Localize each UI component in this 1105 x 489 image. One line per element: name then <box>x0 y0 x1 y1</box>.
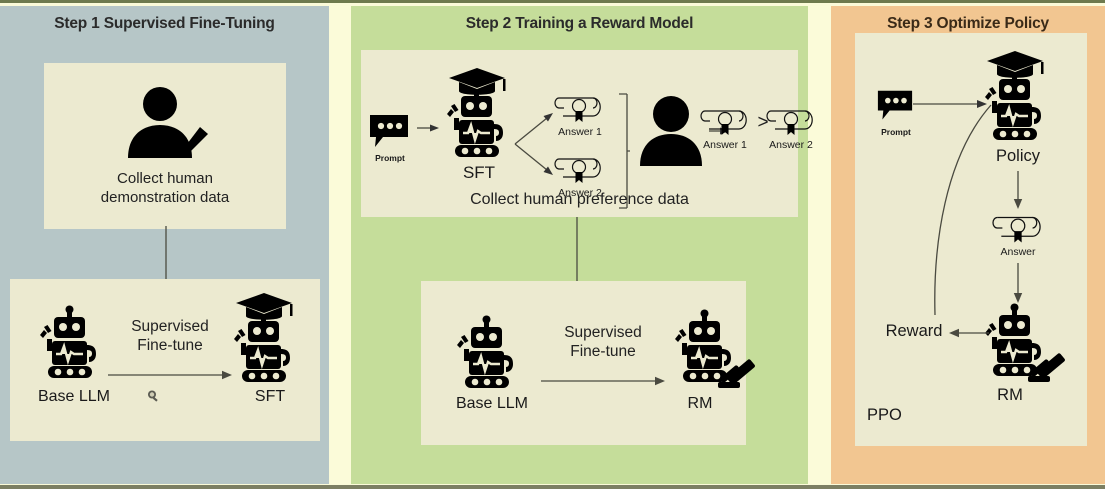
certificate-scroll-icon <box>701 107 749 137</box>
step2-column: Step 2 Training a Reward Model Prompt <box>351 6 808 484</box>
step2-arrow-label: Supervised Fine-tune <box>543 323 663 362</box>
step2-prompt-label: Prompt <box>363 153 417 164</box>
step2-sft-label: SFT <box>439 162 519 183</box>
person-icon <box>637 94 705 166</box>
step3-feedback-curve <box>911 95 997 317</box>
speech-bubble-icon <box>877 89 913 123</box>
step1-column: Step 1 Supervised Fine-Tuning Collect hu… <box>0 6 329 484</box>
step1-top-panel: Collect human demonstration data <box>44 63 286 229</box>
step2-bottom-panel: Base LLM Supervised Fine-tune <box>421 281 746 445</box>
robot-with-graduation-cap-icon <box>443 64 523 158</box>
step3-ppo-label: PPO <box>867 405 927 426</box>
step2-top-caption: Collect human preference data <box>361 190 798 210</box>
certificate-scroll-icon <box>767 107 815 137</box>
step3-answer-to-rm-arrow <box>1011 263 1025 305</box>
step1-sft-label: SFT <box>222 387 318 407</box>
robot-with-gavel-icon <box>981 305 1069 387</box>
step2-branch-arrows <box>513 108 555 180</box>
speech-bubble-icon <box>369 114 409 150</box>
robot-with-graduation-cap-icon <box>230 289 310 379</box>
step1-title: Step 1 Supervised Fine-Tuning <box>0 15 329 33</box>
step2-ranked-second-label: Answer 2 <box>757 139 825 152</box>
step1-base-llm-label: Base LLM <box>14 387 134 407</box>
step2-finetune-arrow <box>541 375 667 387</box>
step2-title: Step 2 Training a Reward Model <box>351 15 808 33</box>
person-icon <box>120 86 220 158</box>
certificate-scroll-icon <box>993 213 1043 245</box>
magnifier-cursor-icon <box>146 389 160 403</box>
step2-base-llm-label: Base LLM <box>431 394 553 414</box>
step3-rm-label: RM <box>975 385 1045 406</box>
robot-icon <box>453 317 529 389</box>
robot-with-gavel-icon <box>671 311 759 393</box>
step3-reward-label: Reward <box>877 321 951 342</box>
diagram-canvas: Step 1 Supervised Fine-Tuning Collect hu… <box>0 0 1105 489</box>
step2-answer1-label: Answer 1 <box>547 126 613 139</box>
step2-ranked-first-label: Answer 1 <box>691 139 759 152</box>
step1-arrow-label: Supervised Fine-tune <box>110 317 230 356</box>
step1-bottom-panel: Base LLM Supervised Fine-tune <box>10 279 320 441</box>
step2-prompt-arrow <box>417 123 441 133</box>
robot-icon <box>36 307 112 379</box>
step2-top-panel: Prompt <box>361 50 798 217</box>
step1-top-caption: Collect human demonstration data <box>44 170 286 208</box>
step3-panel: Prompt <box>855 33 1087 446</box>
step3-column: Step 3 Optimize Policy Prompt <box>831 6 1105 484</box>
certificate-scroll-icon <box>555 94 603 124</box>
step3-policy-to-answer-arrow <box>1011 171 1025 211</box>
step2-rm-label: RM <box>665 394 735 414</box>
step1-finetune-arrow <box>108 369 234 381</box>
step3-rm-to-reward-arrow <box>947 327 991 339</box>
step3-title: Step 3 Optimize Policy <box>831 15 1105 33</box>
certificate-scroll-icon <box>555 155 603 185</box>
